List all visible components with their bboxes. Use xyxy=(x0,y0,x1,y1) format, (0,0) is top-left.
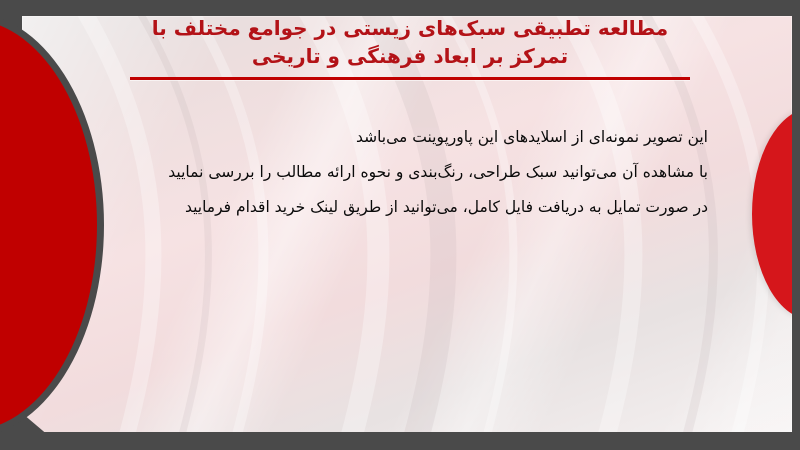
slide-top-band xyxy=(0,0,800,16)
body-line-3: در صورت تمایل به دریافت فایل کامل، می‌تو… xyxy=(98,190,708,225)
slide-bottom-band xyxy=(0,432,800,450)
slide-right-edge-strip xyxy=(792,0,800,450)
slide-body-text: این تصویر نمونه‌ای از اسلایدهای این پاور… xyxy=(98,120,708,225)
slide-title-line-2: تمرکز بر ابعاد فرهنگی و تاریخی xyxy=(120,42,700,70)
slide-title: مطالعه تطبیقی سبک‌های زیستی در جوامع مخت… xyxy=(120,14,700,80)
title-underline-rule xyxy=(130,77,690,80)
slide-title-line-1: مطالعه تطبیقی سبک‌های زیستی در جوامع مخت… xyxy=(120,14,700,42)
body-line-1: این تصویر نمونه‌ای از اسلایدهای این پاور… xyxy=(98,120,708,155)
body-line-2: با مشاهده آن می‌توانید سبک طراحی، رنگ‌بن… xyxy=(98,155,708,190)
presentation-slide: مطالعه تطبیقی سبک‌های زیستی در جوامع مخت… xyxy=(0,0,800,450)
